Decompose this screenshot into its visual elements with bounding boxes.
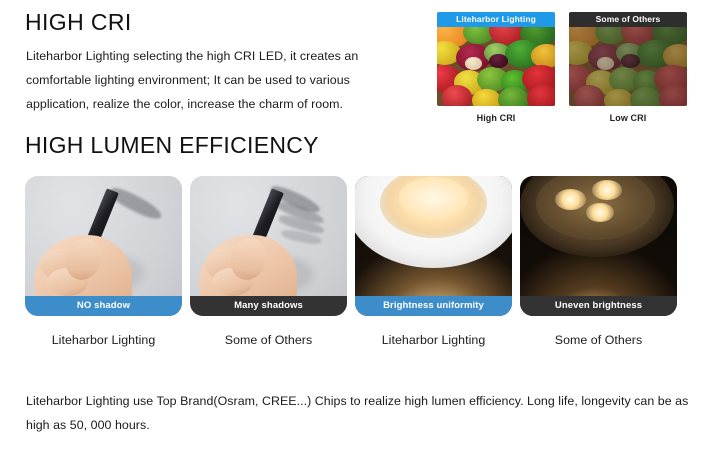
cri-photo-high (437, 27, 555, 106)
high-cri-heading: HIGH CRI (25, 8, 132, 36)
cri-caption-high: High CRI (437, 113, 555, 123)
panel-photo-many-shadows: Many shadows (190, 176, 347, 316)
panel-bar-brightness-uniformity: Brightness uniformity (355, 296, 512, 316)
led-chip-1 (555, 189, 586, 210)
lumen-panel-no-shadow: NO shadow Liteharbor Lighting (25, 176, 182, 347)
panel-photo-no-shadow: NO shadow (25, 176, 182, 316)
panel-caption-uneven-brightness: Some of Others (520, 333, 677, 347)
cri-comparison-group: Liteharbor Lighting (437, 12, 687, 123)
panel-bar-uneven-brightness: Uneven brightness (520, 296, 677, 316)
panel-photo-uneven-brightness: Uneven brightness (520, 176, 677, 316)
high-lumen-efficiency-heading: HIGH LUMEN EFFICIENCY (25, 131, 319, 159)
cri-card-high: Liteharbor Lighting (437, 12, 555, 123)
cri-badge-liteharbor: Liteharbor Lighting (437, 12, 555, 27)
panel-bar-no-shadow: NO shadow (25, 296, 182, 316)
lumen-panel-group: NO shadow Liteharbor Lighting (25, 176, 677, 347)
hand-pen-scene-multiple-shadows (190, 176, 347, 316)
panel-photo-brightness-uniformity: Brightness uniformity (355, 176, 512, 316)
panel-bar-many-shadows: Many shadows (190, 296, 347, 316)
produce-mosaic-vivid (437, 27, 555, 106)
led-chip-2 (592, 180, 622, 200)
panel-caption-many-shadows: Some of Others (190, 333, 347, 347)
cri-caption-low: Low CRI (569, 113, 687, 123)
product-feature-page: HIGH CRI Liteharbor Lighting selecting t… (0, 0, 711, 450)
panel-caption-no-shadow: Liteharbor Lighting (25, 333, 182, 347)
lumen-panel-uneven-brightness: Uneven brightness Some of Others (520, 176, 677, 347)
high-cri-description: Liteharbor Lighting selecting the high C… (26, 44, 398, 116)
cri-card-low: Some of Others (569, 12, 687, 123)
lumen-panel-brightness-uniformity: Brightness uniformity Liteharbor Lightin… (355, 176, 512, 347)
downlight-scene-uneven (520, 176, 677, 316)
produce-mosaic-dull (569, 27, 687, 106)
lumen-efficiency-footnote: Liteharbor Lighting use Top Brand(Osram,… (26, 389, 694, 437)
cri-badge-others: Some of Others (569, 12, 687, 27)
hand-pen-scene-single-shadow (25, 176, 182, 316)
downlight-scene-uniform (355, 176, 512, 316)
cri-photo-low (569, 27, 687, 106)
lumen-panel-many-shadows: Many shadows Some of Others (190, 176, 347, 347)
led-chip-3 (586, 203, 614, 223)
panel-caption-brightness-uniformity: Liteharbor Lighting (355, 333, 512, 347)
